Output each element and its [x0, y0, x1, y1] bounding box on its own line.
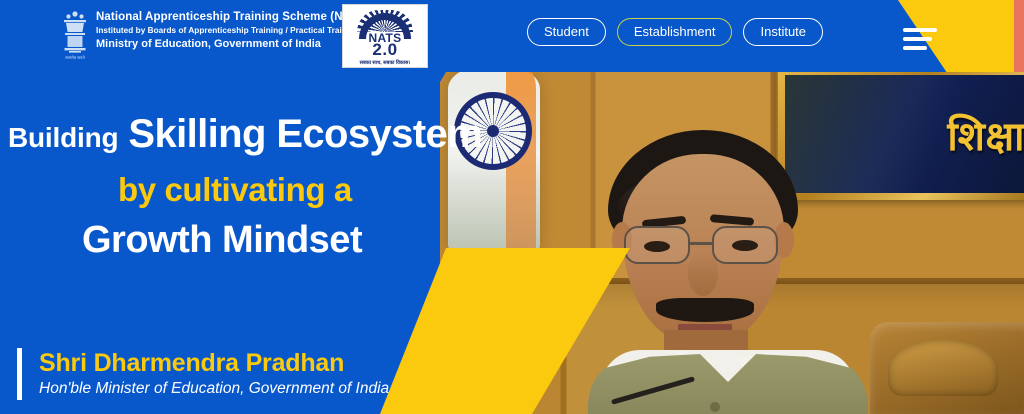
nats-logo-version: 2.0 [347, 40, 423, 60]
speaker-block: Shri Dharmendra Pradhan Hon'ble Minister… [17, 348, 389, 400]
svg-text:सत्यमेव जयते: सत्यमेव जयते [65, 55, 85, 60]
headline-line2: by cultivating a [0, 171, 520, 209]
hamburger-menu-icon[interactable] [903, 28, 937, 50]
nav-button-institute[interactable]: Institute [743, 18, 823, 46]
nats-logo-motto: सबका साथ, सबका विकास। [343, 60, 427, 66]
org-name: National Apprenticeship Training Scheme … [96, 10, 369, 24]
india-state-emblem-icon: सत्यमेव जयते [60, 9, 90, 63]
headline-line3: Growth Mindset [0, 219, 520, 262]
hero-headline: BuildingSkilling Ecosystem by cultivatin… [0, 112, 520, 262]
header-org-text: National Apprenticeship Training Scheme … [96, 10, 369, 52]
mustache [656, 298, 754, 322]
hero-banner: शिक्षा [0, 0, 1024, 414]
org-subtitle: Instituted by Boards of Apprenticeship T… [96, 24, 369, 37]
site-header: सत्यमेव जयते National Apprenticeship Tra… [0, 0, 1024, 72]
nats-gear-logo-icon: NATS 2.0 सबका साथ, सबका विकास। [342, 4, 428, 68]
nav-button-student[interactable]: Student [527, 18, 606, 46]
ministry-name: Ministry of Education, Government of Ind… [96, 37, 369, 52]
primary-nav: Student Establishment Institute [527, 18, 823, 46]
headline-line1-emphasis: Skilling Ecosystem [128, 112, 482, 156]
speaker-name: Shri Dharmendra Pradhan [39, 348, 389, 378]
nav-button-establishment[interactable]: Establishment [617, 18, 733, 46]
speaker-role: Hon'ble Minister of Education, Governmen… [39, 378, 389, 400]
headline-line1-prefix: Building [8, 122, 118, 153]
header-coral-edge [1014, 0, 1024, 72]
sign-text: शिक्षा [947, 107, 1024, 162]
chair-back [870, 322, 1024, 414]
